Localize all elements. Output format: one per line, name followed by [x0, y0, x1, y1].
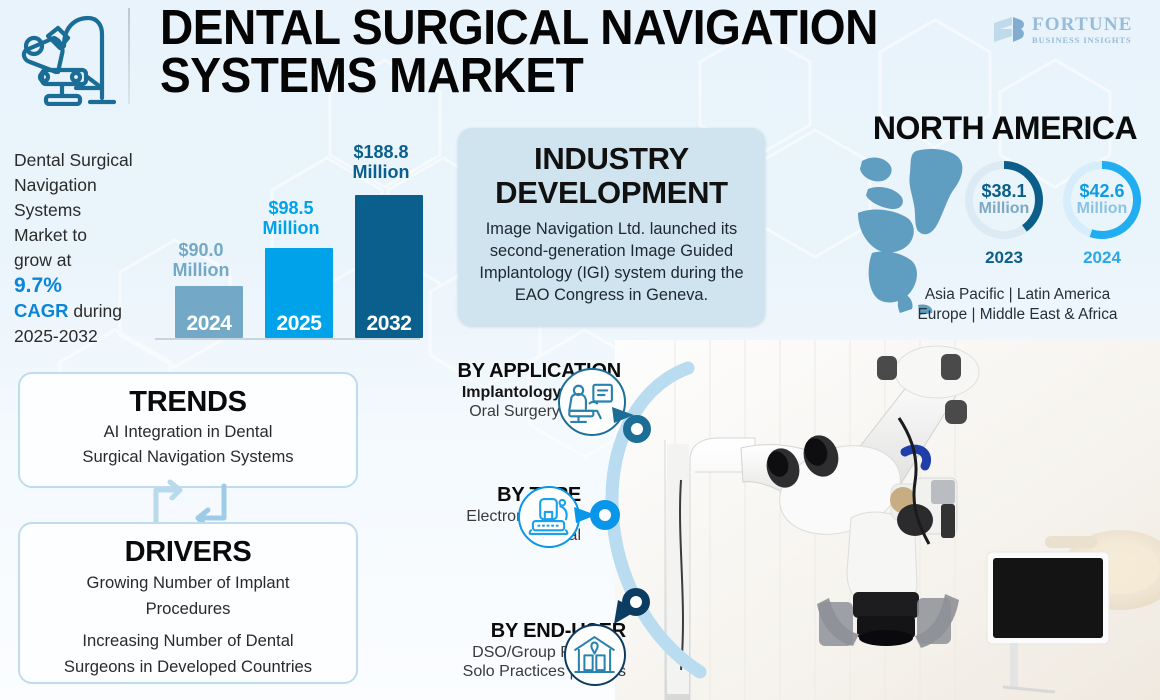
cagr-period: 2025-2032 — [14, 324, 164, 349]
segment-end-user-node — [622, 588, 650, 616]
drivers-line-3: Increasing Number of Dental — [20, 630, 356, 652]
bar-label-2024: $90.0 Million — [151, 240, 251, 280]
drivers-line-4: Surgeons in Developed Countries — [20, 656, 356, 678]
dental-clinic-building-icon — [566, 626, 623, 683]
drivers-card: DRIVERS Growing Number of Implant Proced… — [18, 522, 358, 684]
segment-end-user-icon-circle — [564, 624, 626, 686]
cagr-line-3: Market to — [14, 223, 164, 248]
cagr-line-4: grow at — [14, 248, 164, 273]
fortune-business-insights-logo: FORTUNE BUSINESS INSIGHTS — [992, 8, 1152, 52]
segment-type-icon-circle — [518, 486, 580, 548]
title-line-1: DENTAL SURGICAL NAVIGATION — [160, 4, 921, 52]
donut-2024-year: 2024 — [1060, 248, 1144, 268]
infographic-canvas: DENTAL SURGICAL NAVIGATION SYSTEMS MARKE… — [0, 0, 1160, 700]
segment-application-icon-circle — [558, 368, 626, 436]
donut-2023-year: 2023 — [962, 248, 1046, 268]
logo-text-primary: FORTUNE — [1032, 15, 1133, 34]
bar-2025: 2025 — [265, 248, 333, 338]
trends-heading: TRENDS — [20, 386, 356, 418]
cagr-rate: 9.7% — [14, 273, 164, 298]
navigation-device-icon — [520, 488, 577, 545]
region-title: NORTH AMERICA — [860, 110, 1150, 147]
bar-2024: 2024 — [175, 286, 243, 338]
segment-type-node — [590, 500, 620, 530]
industry-heading-line-1: INDUSTRY — [534, 141, 689, 176]
donut-2023: $38.1 Million — [962, 158, 1046, 242]
industry-development-body: Image Navigation Ltd. launched its secon… — [474, 218, 749, 306]
bar-label-2025: $98.5 Million — [241, 198, 341, 238]
dental-chair-icon — [12, 10, 116, 106]
other-regions-line-2: Europe | Middle East & Africa — [880, 305, 1155, 325]
drivers-line-1: Growing Number of Implant — [20, 572, 356, 594]
page-title: DENTAL SURGICAL NAVIGATION SYSTEMS MARKE… — [160, 4, 921, 100]
logo-text-secondary: BUSINESS INSIGHTS — [1032, 36, 1133, 45]
cagr-label: CAGR — [14, 300, 68, 321]
cagr-summary: Dental Surgical Navigation Systems Marke… — [14, 148, 164, 349]
segment-application-node — [623, 415, 651, 443]
bar-label-2032: $188.8 Million — [331, 142, 431, 182]
industry-heading-line-2: DEVELOPMENT — [495, 175, 728, 210]
drivers-heading: DRIVERS — [20, 536, 356, 568]
cagr-line-2: Navigation Systems — [14, 173, 164, 223]
bar-2032: 2032 — [355, 195, 423, 338]
donut-2024: $42.6 Million — [1060, 158, 1144, 242]
donut-2024-value: $42.6 Million — [1060, 158, 1144, 242]
bar-year-2024: 2024 — [175, 312, 243, 336]
fbi-logo-mark-icon — [992, 15, 1026, 45]
title-line-2: SYSTEMS MARKET — [160, 52, 921, 100]
industry-development-card: INDUSTRY DEVELOPMENT Image Navigation Lt… — [458, 128, 765, 326]
bar-year-2032: 2032 — [355, 312, 423, 336]
trends-line-2: Surgical Navigation Systems — [20, 446, 356, 468]
bar-year-2025: 2025 — [265, 312, 333, 336]
cagr-line-1: Dental Surgical — [14, 148, 164, 173]
donut-2023-value: $38.1 Million — [962, 158, 1046, 242]
header: DENTAL SURGICAL NAVIGATION SYSTEMS MARKE… — [0, 0, 1160, 115]
trends-card: TRENDS AI Integration in Dental Surgical… — [18, 372, 358, 488]
other-regions-list: Asia Pacific | Latin America Europe | Mi… — [880, 285, 1155, 325]
market-size-bar-chart: $90.0 Million 2024 $98.5 Million 2025 $1… — [155, 140, 420, 340]
drivers-line-2: Procedures — [20, 598, 356, 620]
header-divider — [128, 8, 130, 104]
chart-baseline — [155, 338, 420, 340]
cagr-during: during — [68, 301, 122, 321]
trends-line-1: AI Integration in Dental — [20, 421, 356, 443]
industry-development-heading: INDUSTRY DEVELOPMENT — [495, 142, 728, 210]
other-regions-line-1: Asia Pacific | Latin America — [880, 285, 1155, 305]
